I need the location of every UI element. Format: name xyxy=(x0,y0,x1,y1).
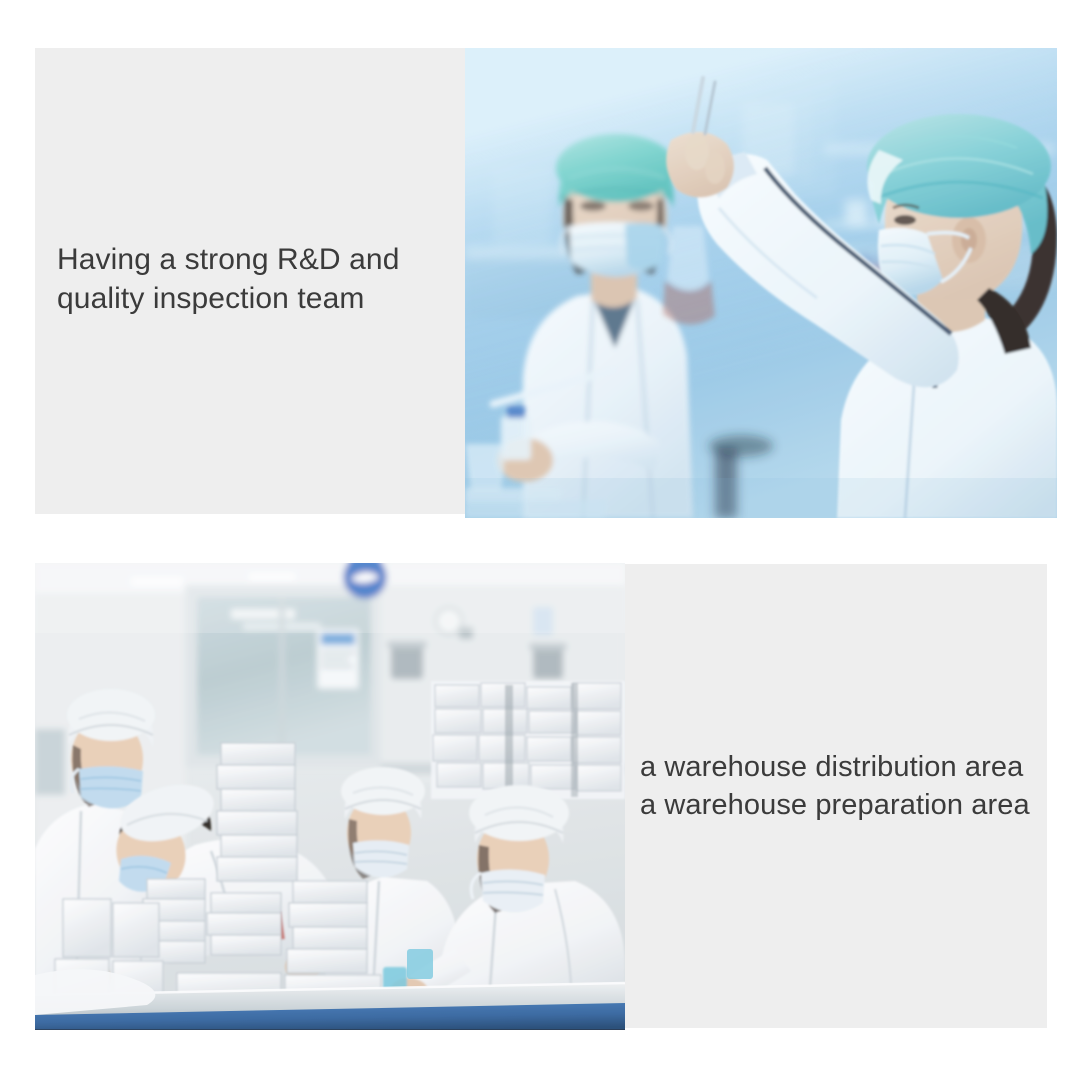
caption-warehouse: a warehouse distribution area a warehous… xyxy=(640,748,1060,824)
lab-technicians-photo xyxy=(465,48,1057,518)
warehouse-packing-photo xyxy=(35,563,625,1030)
lab-technicians-illustration xyxy=(465,48,1057,518)
section-warehouse: a warehouse distribution area a warehous… xyxy=(35,558,1047,1030)
section-rnd-quality: Having a strong R&D and quality inspecti… xyxy=(35,48,1057,518)
warehouse-packing-illustration xyxy=(35,563,625,1030)
caption-rnd-quality: Having a strong R&D and quality inspecti… xyxy=(57,240,457,318)
